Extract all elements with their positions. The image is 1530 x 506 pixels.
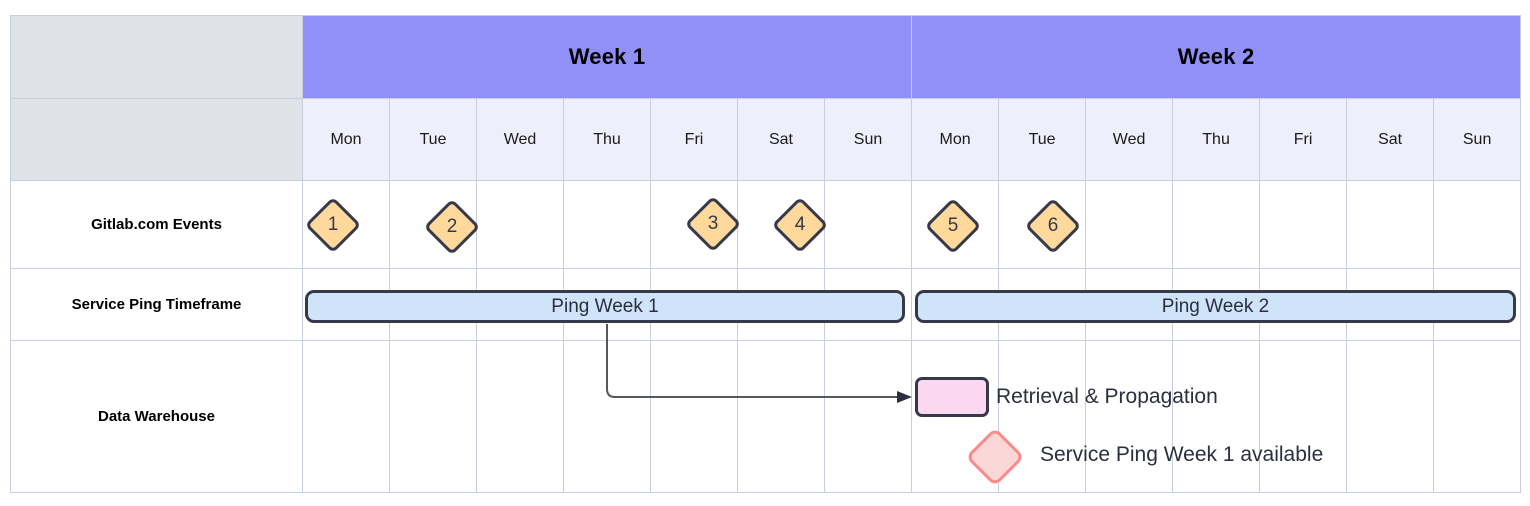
ping-bar-week-2[interactable]: Ping Week 2 <box>915 290 1516 323</box>
ping-bar-week-1[interactable]: Ping Week 1 <box>305 290 905 323</box>
service-ping-available-label: Service Ping Week 1 available <box>1040 443 1323 467</box>
event-diamond-3-label: 3 <box>696 207 730 241</box>
ping-bar-week-1-label: Ping Week 1 <box>551 296 658 318</box>
event-diamond-6-label: 6 <box>1036 209 1070 243</box>
event-diamond-4-label: 4 <box>783 208 817 242</box>
connector-arrow-icon <box>0 0 1530 506</box>
event-diamond-5-label: 5 <box>936 209 970 243</box>
retrieval-propagation-label: Retrieval & Propagation <box>996 385 1218 409</box>
event-diamond-2-label: 2 <box>435 210 469 244</box>
ping-bar-week-2-label: Ping Week 2 <box>1162 296 1269 318</box>
retrieval-propagation-box[interactable] <box>915 377 989 417</box>
event-diamond-1-label: 1 <box>316 208 350 242</box>
gantt-diagram: Week 1 Week 2 Mon Tue Wed Thu Fri Sat Su… <box>0 0 1530 506</box>
